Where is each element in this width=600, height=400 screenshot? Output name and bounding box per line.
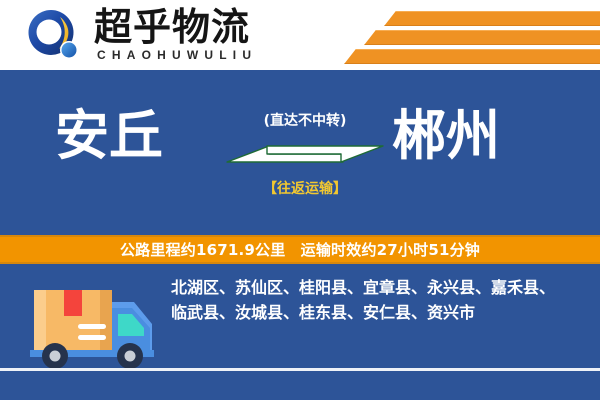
delivery-truck-icon (22, 274, 162, 372)
distance-duration-band: 公路里程约1671.9公里 运输时效约27小时51分钟 (0, 235, 600, 264)
bidirectional-arrow-icon (225, 136, 385, 172)
logistics-route-banner: 超乎物流 CHAOHUWULIU 安丘 (直达不中转) 【往返运输】 郴州 公路… (0, 0, 600, 400)
brand-name-en: CHAOHUWULIU (97, 48, 257, 62)
route-arrow-group: (直达不中转) 【往返运输】 (225, 110, 385, 200)
route-section: 安丘 (直达不中转) 【往返运输】 郴州 (0, 70, 600, 235)
banner-header: 超乎物流 CHAOHUWULIU (0, 0, 600, 70)
header-stripe-3 (344, 49, 600, 64)
direct-shipping-note: (直达不中转) (225, 110, 385, 130)
header-stripe-1 (384, 11, 600, 26)
distance-duration-text: 公路里程约1671.9公里 运输时效约27小时51分钟 (120, 239, 480, 260)
coverage-line-2: 临武县、汝城县、桂东县、安仁县、资兴市 (171, 300, 591, 325)
coverage-section: 北湖区、苏仙区、桂阳县、宜章县、永兴县、嘉禾县、 临武县、汝城县、桂东县、安仁县… (0, 264, 600, 400)
header-stripe-2 (364, 30, 600, 45)
coverage-line-1: 北湖区、苏仙区、桂阳县、宜章县、永兴县、嘉禾县、 (171, 275, 591, 300)
circle-crescent-logo-icon (26, 8, 82, 64)
brand-name-cn: 超乎物流 (94, 6, 250, 48)
coverage-area-list: 北湖区、苏仙区、桂阳县、宜章县、永兴县、嘉禾县、 临武县、汝城县、桂东县、安仁县… (171, 275, 591, 325)
round-trip-note: 【往返运输】 (225, 178, 385, 198)
origin-city: 安丘 (55, 106, 163, 166)
destination-city: 郴州 (392, 106, 500, 166)
ground-line (0, 368, 600, 371)
